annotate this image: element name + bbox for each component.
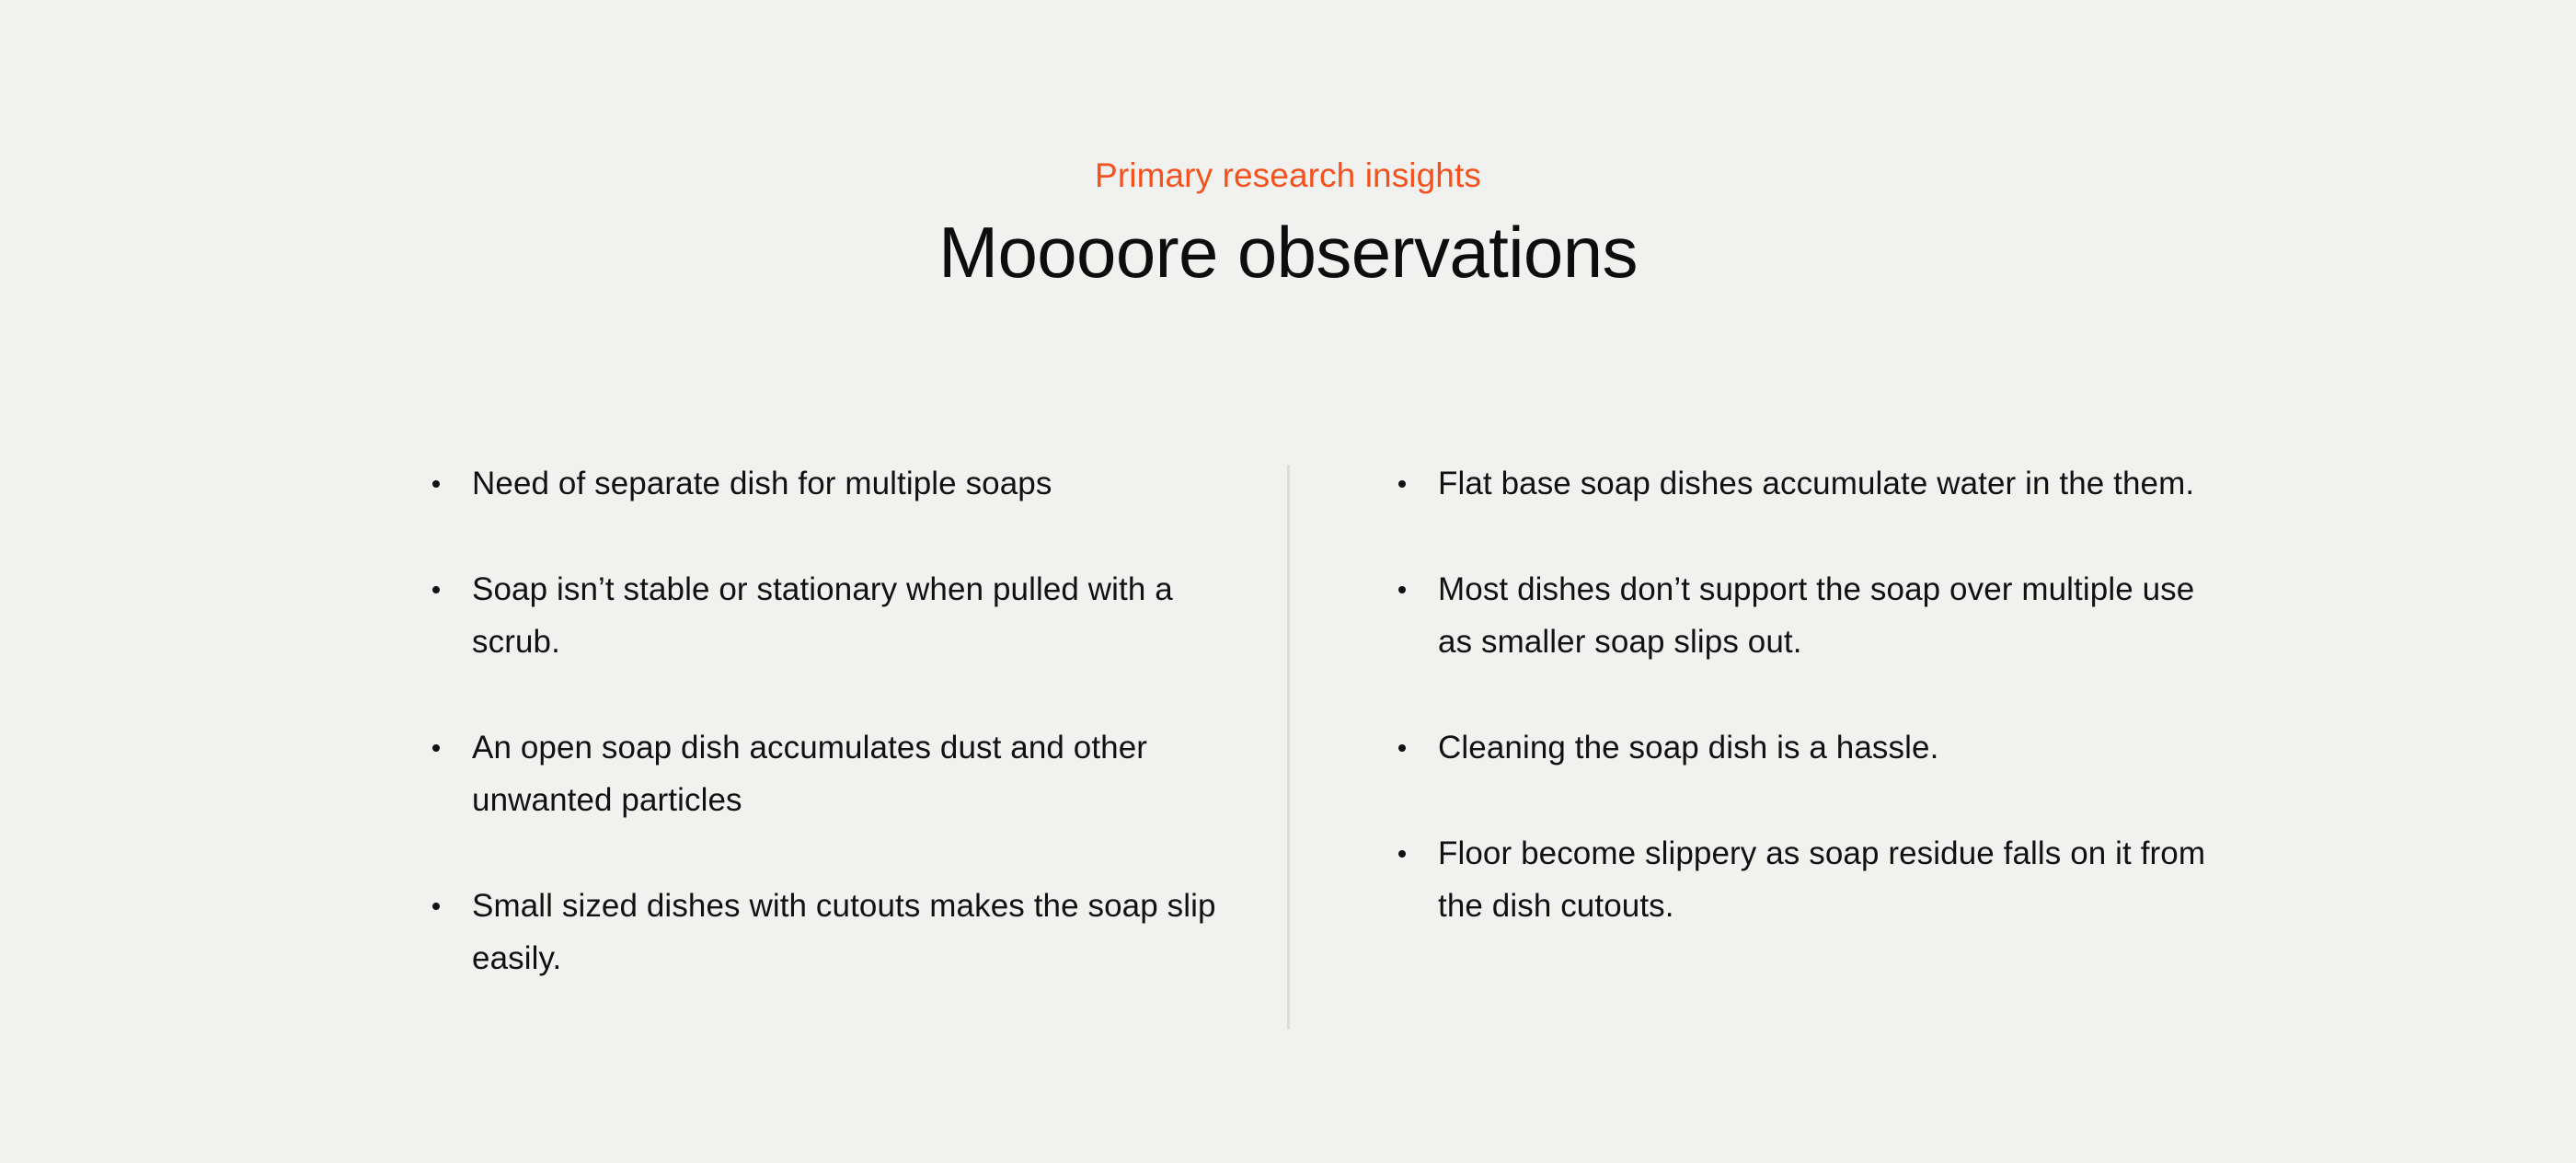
- slide-canvas: Primary research insights Moooore observ…: [0, 0, 2576, 1163]
- bullet-dot-icon: [432, 586, 440, 593]
- bullet-dot-icon: [432, 903, 440, 910]
- list-item-text: An open soap dish accumulates dust and o…: [472, 721, 1228, 826]
- two-column-body: Need of separate dish for multiple soaps…: [0, 457, 2576, 1046]
- list-item: Cleaning the soap dish is a hassle.: [1385, 721, 2213, 774]
- right-bullet-list: Flat base soap dishes accumulate water i…: [1385, 457, 2213, 932]
- bullet-dot-icon: [1398, 586, 1406, 593]
- eyebrow-label: Primary research insights: [0, 155, 2576, 197]
- bullet-dot-icon: [1398, 480, 1406, 488]
- list-item: Flat base soap dishes accumulate water i…: [1385, 457, 2213, 510]
- right-column: Flat base soap dishes accumulate water i…: [1385, 457, 2213, 932]
- page-title: Moooore observations: [0, 212, 2576, 293]
- list-item: Small sized dishes with cutouts makes th…: [419, 880, 1228, 985]
- list-item-text: Cleaning the soap dish is a hassle.: [1438, 721, 2213, 774]
- list-item-text: Floor become slippery as soap residue fa…: [1438, 827, 2213, 932]
- left-column: Need of separate dish for multiple soaps…: [419, 457, 1228, 985]
- list-item-text: Flat base soap dishes accumulate water i…: [1438, 457, 2213, 510]
- bullet-dot-icon: [432, 480, 440, 488]
- list-item: Floor become slippery as soap residue fa…: [1385, 827, 2213, 932]
- list-item-text: Most dishes don’t support the soap over …: [1438, 563, 2213, 668]
- slide-header: Primary research insights Moooore observ…: [0, 155, 2576, 293]
- bullet-dot-icon: [1398, 744, 1406, 752]
- column-divider: [1287, 465, 1290, 1030]
- list-item-text: Small sized dishes with cutouts makes th…: [472, 880, 1228, 985]
- list-item-text: Need of separate dish for multiple soaps: [472, 457, 1228, 510]
- left-bullet-list: Need of separate dish for multiple soaps…: [419, 457, 1228, 985]
- list-item: Soap isn’t stable or stationary when pul…: [419, 563, 1228, 668]
- bullet-dot-icon: [432, 744, 440, 752]
- list-item: Most dishes don’t support the soap over …: [1385, 563, 2213, 668]
- list-item: Need of separate dish for multiple soaps: [419, 457, 1228, 510]
- list-item-text: Soap isn’t stable or stationary when pul…: [472, 563, 1228, 668]
- list-item: An open soap dish accumulates dust and o…: [419, 721, 1228, 826]
- bullet-dot-icon: [1398, 850, 1406, 858]
